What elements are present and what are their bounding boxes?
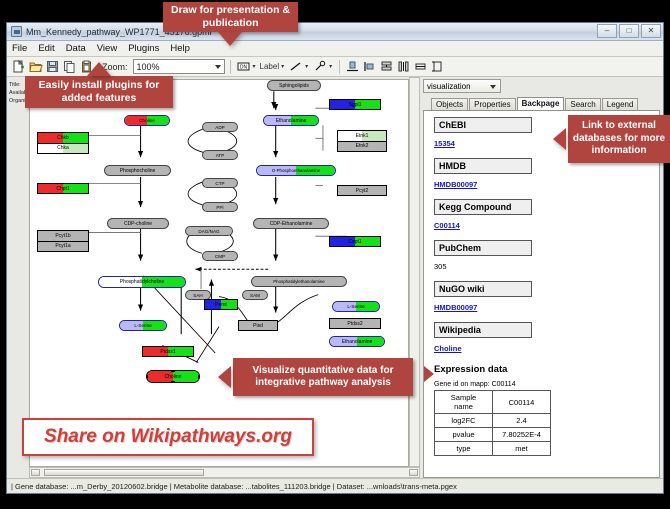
selection-handle[interactable] [171, 381, 175, 383]
pathway-node-label: Choline [139, 118, 155, 123]
save-icon[interactable] [45, 59, 60, 74]
visualization-combo[interactable]: visualization [423, 79, 501, 93]
pathway-node-label: Cept1 [348, 239, 361, 245]
receptor-icon[interactable] [312, 59, 327, 74]
menu-file[interactable]: File [12, 43, 33, 54]
callout-share: Share on Wikipathways.org [22, 418, 314, 456]
scroll-right-arrow-icon[interactable] [409, 469, 418, 476]
pathway-node-label: CTP [215, 181, 224, 186]
pathway-node-label: Phosphatidylethanolamine [273, 279, 325, 284]
pathway-node-metabolite[interactable]: L-Serine [119, 320, 167, 331]
db-block-kegg: Kegg Compound C00114 [434, 199, 659, 233]
pathway-node-label: O-Phosphoethanolamine [272, 168, 321, 173]
pathway-node-label: Ptdss2 [347, 321, 362, 327]
pathway-node-label: SAH [193, 293, 202, 298]
table-row: type met [435, 442, 551, 456]
pathway-gene-row[interactable]: Chpt1 [38, 184, 88, 193]
db-link-kegg[interactable]: C00114 [434, 221, 460, 230]
canvas-horizontal-scrollbar[interactable] [29, 467, 420, 478]
pathway-node-metabolite[interactable]: Phosphatidylcholine [98, 276, 186, 288]
db-link-wikipedia[interactable]: Choline [434, 344, 462, 353]
pathway-gene-row[interactable]: Pisd [239, 321, 277, 330]
pathway-node-metabolite[interactable]: Choline [124, 115, 170, 126]
pathway-node-label: Ptdss1 [160, 349, 175, 355]
pathway-node-metabolite[interactable]: Ethanolamine [263, 115, 319, 126]
pathway-gene-row[interactable]: Etnk2 [338, 141, 386, 152]
pathway-node-label: ADP [215, 125, 224, 130]
pathway-node-label: Ethanolamine [276, 118, 307, 124]
pathway-diagram[interactable]: SphingolipidsCholineEthanolamineADPATPPh… [30, 80, 408, 466]
menu-help[interactable]: Help [170, 43, 196, 54]
callout-draw: Draw for presentation & publication [163, 2, 298, 32]
backpage-content: ChEBI 15354 HMDB HMDB00097 Kegg Compound… [423, 111, 660, 478]
canvas-vertical-scrollbar[interactable] [409, 77, 420, 467]
callout-plugins: Easily install plugins for added feature… [25, 76, 173, 108]
pathway-node-label: SAM [250, 293, 260, 298]
selection-handle[interactable] [146, 375, 148, 379]
title-bar: Mm_Kennedy_pathway_WP1771_45176.gpml – □… [7, 23, 663, 41]
chevron-down-icon[interactable]: ▾ [305, 63, 308, 70]
menu-edit[interactable]: Edit [38, 43, 60, 54]
pathway-node-label: Phosphatidylcholine [120, 279, 164, 285]
pathway-node-metabolite[interactable]: ATP [202, 150, 238, 160]
pathway-node-label: Pemt [215, 302, 227, 308]
expr-key: pvalue [435, 428, 493, 442]
pathway-node-label: PPi [216, 205, 223, 210]
tab-legend[interactable]: Legend [602, 98, 639, 110]
pathway-node-metabolite[interactable]: CDP-choline [107, 218, 169, 229]
db-header-hmdb: HMDB [434, 158, 532, 174]
pathway-node-gene[interactable]: Pemt [204, 299, 238, 310]
window-controls: – □ ✕ [597, 24, 661, 38]
common-height-icon[interactable] [430, 59, 445, 74]
open-folder-icon[interactable] [28, 59, 43, 74]
table-row: log2FC 2.4 [435, 414, 551, 428]
pathway-node-label: Chka [57, 145, 69, 151]
db-block-wikipedia: Wikipedia Choline [434, 322, 659, 356]
db-value-pubchem: 305 [434, 262, 447, 271]
db-block-hmdb: HMDB HMDB00097 [434, 158, 659, 192]
copy-icon[interactable] [62, 59, 77, 74]
pathway-node-metabolite[interactable]: L-Serine [332, 301, 380, 312]
status-text: | Gene database: ...m_Derby_20120602.bri… [11, 482, 457, 491]
pathway-node-gene[interactable]: ChkbChka [37, 132, 89, 154]
table-row: Sample name C00114 [435, 391, 551, 414]
expr-key: type [435, 442, 493, 456]
pathway-node-gene[interactable]: Cept1 [329, 236, 381, 247]
db-header-wikipedia: Wikipedia [434, 322, 532, 338]
distribute-icon[interactable] [396, 59, 411, 74]
pathway-node-label: DAG/NAG [198, 229, 219, 234]
pathway-node-gene[interactable]: Ptdss2 [329, 318, 381, 329]
menu-bar: File Edit Data View Plugins Help [7, 41, 663, 57]
callout-draw-arrow-icon [218, 32, 242, 46]
pathway-node-label: Pisd [253, 323, 263, 329]
pathway-node-metabolite[interactable]: Choline [146, 370, 200, 383]
gene-id-line: Gene id on mapp: C00114 [434, 381, 659, 388]
pathway-gene-row[interactable]: Cept1 [330, 237, 380, 246]
selection-handle[interactable] [198, 375, 200, 379]
pathway-gene-row[interactable]: Pcyt1a [38, 241, 88, 252]
expr-key: Sample name [435, 391, 493, 414]
pathway-node-label: Chkb [57, 135, 69, 141]
expr-value: 7.80252E-4 [493, 428, 551, 442]
pathway-node-metabolite[interactable]: O-Phosphoethanolamine [256, 165, 336, 176]
db-link-chebi[interactable]: 15354 [434, 139, 455, 148]
tab-properties[interactable]: Properties [469, 98, 515, 110]
stack-icon[interactable] [379, 59, 394, 74]
zoom-value: 100% [137, 62, 160, 72]
chevron-down-icon[interactable]: ▾ [329, 63, 332, 70]
pathway-node-metabolite[interactable]: Phosphocholine [104, 165, 171, 176]
pathway-node-label: L-Serine [134, 323, 151, 328]
pathway-node-metabolite[interactable]: CMP [202, 251, 238, 261]
pathway-node-label: CDP-Ethanolamine [270, 221, 313, 227]
status-bar: | Gene database: ...m_Derby_20120602.bri… [7, 478, 663, 493]
callout-plugins-arrow-icon [87, 62, 111, 76]
callout-visualize: Visualize quantitative data for integrat… [233, 358, 413, 396]
menu-view[interactable]: View [97, 43, 123, 54]
maximize-button[interactable]: □ [619, 24, 639, 38]
db-header-kegg: Kegg Compound [434, 199, 532, 215]
db-link-hmdb[interactable]: HMDB00097 [434, 180, 477, 189]
chevron-down-icon[interactable]: ▾ [281, 63, 284, 70]
db-block-nugo: NuGO wiki HMDB00097 [434, 281, 659, 315]
visualization-combo-value: visualization [427, 82, 471, 91]
db-header-nugo: NuGO wiki [434, 281, 532, 297]
label-tool-label[interactable]: Label [260, 62, 280, 71]
minimize-button[interactable]: – [597, 24, 617, 38]
pathway-node-label: Chpt1 [56, 186, 69, 192]
menu-data[interactable]: Data [66, 43, 92, 54]
expr-value: met [493, 442, 551, 456]
pathway-node-metabolite[interactable]: CDP-Ethanolamine [253, 218, 329, 229]
toolbar-separator [339, 60, 340, 74]
scroll-thumb[interactable] [44, 469, 204, 476]
pathway-node-metabolite[interactable]: Ethanolamine [329, 336, 385, 347]
expression-pointer-icon [424, 366, 434, 382]
expression-data-title: Expression data [434, 364, 659, 375]
tab-search[interactable]: Search [565, 98, 600, 110]
scroll-left-arrow-icon[interactable] [31, 469, 40, 476]
align-bottom-icon[interactable] [345, 59, 360, 74]
db-block-pubchem: PubChem 305 [434, 240, 659, 274]
db-link-nugo[interactable]: HMDB00097 [434, 303, 477, 312]
common-width-icon[interactable] [413, 59, 428, 74]
pathway-node-label: Etnk1 [356, 133, 369, 139]
pathway-gene-row[interactable]: Ptdss1 [143, 347, 193, 356]
table-row: pvalue 7.80252E-4 [435, 428, 551, 442]
expr-value: C00114 [493, 391, 551, 414]
pathway-node-gene[interactable]: Pisd [238, 320, 278, 331]
toolbar-separator [230, 60, 231, 74]
selection-handle[interactable] [171, 370, 175, 372]
svg-text:DN: DN [239, 65, 247, 71]
pathway-node-label: CDP-choline [124, 221, 152, 227]
pathway-gene-row[interactable]: Pcyt2 [338, 186, 386, 195]
pathway-node-label: CMP [215, 254, 225, 259]
chevron-down-icon [215, 65, 221, 69]
pathway-gene-row[interactable]: Etnk1 [338, 131, 386, 141]
pathway-node-gene[interactable]: Pcyt2 [337, 185, 387, 196]
zoom-combo[interactable]: 100% [133, 59, 225, 74]
pathway-node-label: Etnk2 [356, 143, 369, 149]
db-header-chebi: ChEBI [434, 117, 532, 133]
new-file-icon[interactable] [11, 59, 26, 74]
screenshot-root: Mm_Kennedy_pathway_WP1771_45176.gpml – □… [0, 0, 670, 509]
chevron-down-icon [490, 85, 496, 89]
db-header-pubchem: PubChem [434, 240, 532, 256]
align-left-icon[interactable] [362, 59, 377, 74]
pathway-node-gene[interactable]: Ptdss1 [142, 346, 194, 357]
pathway-node-label: Sgpl1 [349, 102, 362, 108]
pathway-node-metabolite[interactable]: Phosphatidylethanolamine [251, 276, 347, 287]
pathway-node-gene[interactable]: Pcyt1bPcyt1a [37, 230, 89, 252]
selection-handle[interactable] [146, 370, 148, 372]
pathway-node-metabolite[interactable]: CTP [202, 178, 238, 188]
callout-visualize-arrow-icon [218, 366, 231, 388]
datanode-icon[interactable]: DN [236, 59, 251, 74]
pathway-gene-row[interactable]: Chka [38, 143, 88, 154]
expr-value: 2.4 [493, 414, 551, 428]
callout-link: Link to external databases for more info… [568, 115, 670, 163]
pathway-canvas[interactable]: SphingolipidsCholineEthanolamineADPATPPh… [29, 79, 409, 467]
pathway-gene-row[interactable]: Sgpl1 [330, 100, 380, 109]
tab-objects[interactable]: Objects [431, 98, 468, 110]
pathway-node-label: L-Serine [347, 304, 364, 309]
pathway-node-gene[interactable]: Chpt1 [37, 183, 89, 194]
pathway-node-label: Choline [165, 374, 182, 380]
expr-key: log2FC [435, 414, 493, 428]
pathway-node-gene[interactable]: Etnk1Etnk2 [337, 130, 387, 152]
close-button[interactable]: ✕ [641, 24, 661, 38]
pathway-node-metabolite[interactable]: Sphingolipids [267, 80, 321, 91]
pathway-gene-row[interactable]: Ptdss2 [330, 319, 380, 328]
pathway-node-label: Pcyt2 [356, 188, 369, 194]
pathway-gene-row[interactable]: Pemt [205, 300, 237, 309]
side-panel-tabs: Objects Properties Backpage Search Legen… [423, 96, 660, 111]
pathway-node-metabolite[interactable]: SAM [242, 290, 268, 300]
expression-table: Sample name C00114 log2FC 2.4 pvalue 7.8… [434, 390, 551, 456]
pathway-node-label: Sphingolipids [279, 83, 309, 89]
pathway-node-label: Pcyt1b [55, 233, 70, 239]
pathway-node-label: ATP [216, 153, 225, 158]
pathway-node-label: Ethanolamine [342, 339, 373, 345]
app-icon [11, 26, 22, 37]
pathway-node-gene[interactable]: Sgpl1 [329, 99, 381, 110]
pathway-node-label: Phosphocholine [120, 168, 156, 174]
pathway-gene-row[interactable]: Pcyt1b [38, 231, 88, 241]
line-icon[interactable] [288, 59, 303, 74]
pathway-node-metabolite[interactable]: DAG/NAG [185, 226, 233, 236]
pathway-gene-row[interactable]: Chkb [38, 133, 88, 143]
chevron-down-icon[interactable]: ▾ [253, 63, 256, 70]
tab-backpage[interactable]: Backpage [517, 97, 565, 110]
menu-plugins[interactable]: Plugins [128, 43, 165, 54]
pathway-node-metabolite[interactable]: ADP [202, 122, 238, 132]
pathway-node-label: Pcyt1a [55, 243, 70, 249]
pathway-node-metabolite[interactable]: PPi [202, 202, 238, 212]
callout-link-arrow-icon [553, 128, 566, 150]
